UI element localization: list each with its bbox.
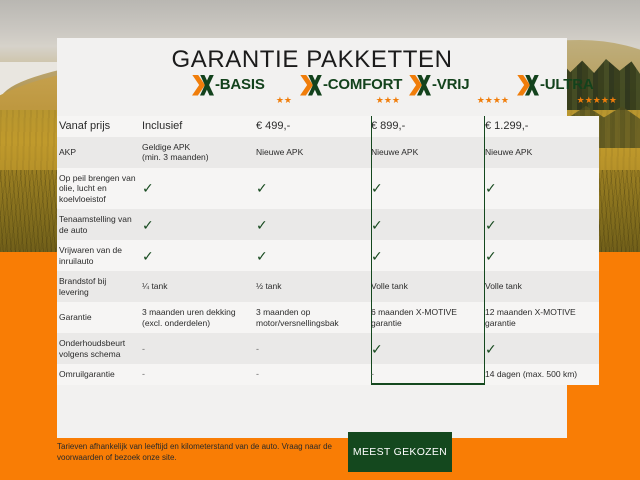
table-cell: ✓ — [371, 168, 485, 210]
cell-value: Nieuwe APK — [256, 147, 365, 158]
cell-value: € 1.299,- — [485, 121, 593, 132]
check-icon: ✓ — [256, 219, 365, 231]
check-icon: ✓ — [371, 219, 479, 231]
cell-value: Inclusief — [142, 121, 250, 132]
package-name-comfort: -COMFORT — [323, 75, 402, 95]
table-cell: ✓ — [485, 209, 599, 240]
table-cell: - — [256, 333, 371, 364]
cell-value: Volle tank — [485, 281, 593, 292]
check-icon: ✓ — [485, 343, 593, 355]
table-cell: - — [142, 333, 256, 364]
page-title: GARANTIE PAKKETTEN — [57, 38, 567, 74]
cell-value: Geldige APK(min. 3 maanden) — [142, 142, 250, 163]
row-label: Vanaf prijs — [57, 116, 142, 137]
table-cell: ✓ — [142, 209, 256, 240]
check-icon: ✓ — [371, 343, 479, 355]
table-cell: - — [256, 364, 371, 385]
row-label: Brandstof bij levering — [57, 271, 142, 302]
table-cell: ✓ — [256, 168, 371, 210]
x-motive-chevron-icon — [300, 75, 322, 96]
pricing-card: GARANTIE PAKKETTEN -BASIS ★★ -COMFORT ★★… — [57, 38, 567, 438]
table-row: Onderhoudsbeurt volgens schema--✓✓ — [57, 333, 599, 364]
cell-value: 3 maanden opmotor/versnellingsbak — [256, 307, 365, 328]
x-motive-chevron-icon — [517, 75, 539, 96]
meest-gekozen-button[interactable]: MEEST GEKOZEN — [348, 432, 452, 472]
table-cell: ✓ — [485, 168, 599, 210]
table-row: AKPGeldige APK(min. 3 maanden)Nieuwe APK… — [57, 137, 599, 168]
row-label: AKP — [57, 137, 142, 168]
row-label: Omruilgarantie — [57, 364, 142, 385]
table-row: Vrijwaren van de inruilauto✓✓✓✓ — [57, 240, 599, 271]
table-cell: Nieuwe APK — [371, 137, 485, 168]
table-cell: Geldige APK(min. 3 maanden) — [142, 137, 256, 168]
table-cell: ✓ — [142, 168, 256, 210]
table-cell: 12 maanden X-MOTIVEgarantie — [485, 302, 599, 333]
cell-value: - — [142, 344, 250, 354]
table-cell: ✓ — [142, 240, 256, 271]
table-cell: € 1.299,- — [485, 116, 599, 137]
table-cell: Volle tank — [371, 271, 485, 302]
cell-value: ½ tank — [256, 281, 365, 292]
package-logo-row: -BASIS ★★ -COMFORT ★★★ -VRIJ ★★★★ — [57, 74, 567, 116]
comparison-table: Vanaf prijsInclusief€ 499,-€ 899,-€ 1.29… — [57, 116, 599, 385]
table-cell: - — [371, 364, 485, 385]
rating-stars-vrij: ★★★★ — [409, 96, 513, 106]
table-cell: 14 dagen (max. 500 km) — [485, 364, 599, 385]
table-cell: Nieuwe APK — [256, 137, 371, 168]
table-cell: Inclusief — [142, 116, 256, 137]
check-icon: ✓ — [485, 182, 593, 194]
row-label: Onderhoudsbeurt volgens schema — [57, 333, 142, 364]
package-name-vrij: -VRIJ — [432, 75, 469, 95]
table-cell: ✓ — [371, 240, 485, 271]
table-cell: Nieuwe APK — [485, 137, 599, 168]
cell-value: Nieuwe APK — [371, 147, 479, 158]
table-row: Vanaf prijsInclusief€ 499,-€ 899,-€ 1.29… — [57, 116, 599, 137]
table-cell: Volle tank — [485, 271, 599, 302]
check-icon: ✓ — [485, 250, 593, 262]
check-icon: ✓ — [485, 219, 593, 231]
table-cell: 3 maanden opmotor/versnellingsbak — [256, 302, 371, 333]
check-icon: ✓ — [256, 182, 365, 194]
row-label: Op peil brengen van olie, lucht en koelv… — [57, 168, 142, 210]
package-name-basis: -BASIS — [215, 75, 265, 95]
x-motive-chevron-icon — [192, 75, 214, 96]
check-icon: ✓ — [256, 250, 365, 262]
check-icon: ✓ — [142, 182, 250, 194]
cell-value: 3 maanden uren dekking(excl. onderdelen) — [142, 307, 250, 328]
cell-value: - — [256, 344, 365, 354]
row-label: Garantie — [57, 302, 142, 333]
package-logo-comfort[interactable]: -COMFORT ★★★ — [300, 74, 404, 106]
rating-stars-ultra: ★★★★★ — [517, 96, 621, 106]
cell-value: 6 maanden X-MOTIVEgarantie — [371, 307, 479, 328]
table-row: Brandstof bij levering¼ tank½ tankVolle … — [57, 271, 599, 302]
footnote-text: Tarieven afhankelijk van leeftijd en kil… — [57, 441, 337, 463]
cell-value: 12 maanden X-MOTIVEgarantie — [485, 307, 593, 328]
cell-value: Nieuwe APK — [485, 147, 593, 158]
table-cell: ✓ — [256, 240, 371, 271]
table-cell: ✓ — [485, 333, 599, 364]
x-motive-chevron-icon — [409, 75, 431, 96]
table-cell: € 499,- — [256, 116, 371, 137]
table-row: Omruilgarantie---14 dagen (max. 500 km) — [57, 364, 599, 385]
row-label: Tenaamstelling van de auto — [57, 209, 142, 240]
table-cell: ¼ tank — [142, 271, 256, 302]
table-row: Garantie3 maanden uren dekking(excl. ond… — [57, 302, 599, 333]
package-logo-ultra[interactable]: -ULTRA ★★★★★ — [517, 74, 621, 106]
package-logo-vrij[interactable]: -VRIJ ★★★★ — [409, 74, 513, 106]
package-name-ultra: -ULTRA — [540, 75, 594, 95]
check-icon: ✓ — [371, 182, 479, 194]
table-cell: 3 maanden uren dekking(excl. onderdelen) — [142, 302, 256, 333]
table-cell: - — [142, 364, 256, 385]
cell-value: € 499,- — [256, 121, 365, 132]
table-cell: ✓ — [371, 209, 485, 240]
card-footer: Tarieven afhankelijk van leeftijd en kil… — [0, 438, 640, 480]
rating-stars-comfort: ★★★ — [300, 96, 404, 106]
cell-value: € 899,- — [371, 121, 479, 132]
cell-value: ¼ tank — [142, 281, 250, 292]
table-row: Op peil brengen van olie, lucht en koelv… — [57, 168, 599, 210]
table-cell: € 899,- — [371, 116, 485, 137]
table-cell: ✓ — [256, 209, 371, 240]
cell-value: 14 dagen (max. 500 km) — [485, 369, 593, 380]
comparison-table-body: Vanaf prijsInclusief€ 499,-€ 899,-€ 1.29… — [57, 116, 599, 385]
row-label: Vrijwaren van de inruilauto — [57, 240, 142, 271]
table-cell: ✓ — [485, 240, 599, 271]
cell-value: - — [256, 369, 365, 379]
rating-stars-basis: ★★ — [192, 96, 296, 106]
table-row: Tenaamstelling van de auto✓✓✓✓ — [57, 209, 599, 240]
cell-value: - — [371, 369, 479, 379]
check-icon: ✓ — [371, 250, 479, 262]
check-icon: ✓ — [142, 250, 250, 262]
table-cell: ✓ — [371, 333, 485, 364]
package-logo-basis[interactable]: -BASIS ★★ — [192, 74, 296, 106]
check-icon: ✓ — [142, 219, 250, 231]
table-cell: ½ tank — [256, 271, 371, 302]
cell-value: Volle tank — [371, 281, 479, 292]
cell-value: - — [142, 369, 250, 379]
table-cell: 6 maanden X-MOTIVEgarantie — [371, 302, 485, 333]
